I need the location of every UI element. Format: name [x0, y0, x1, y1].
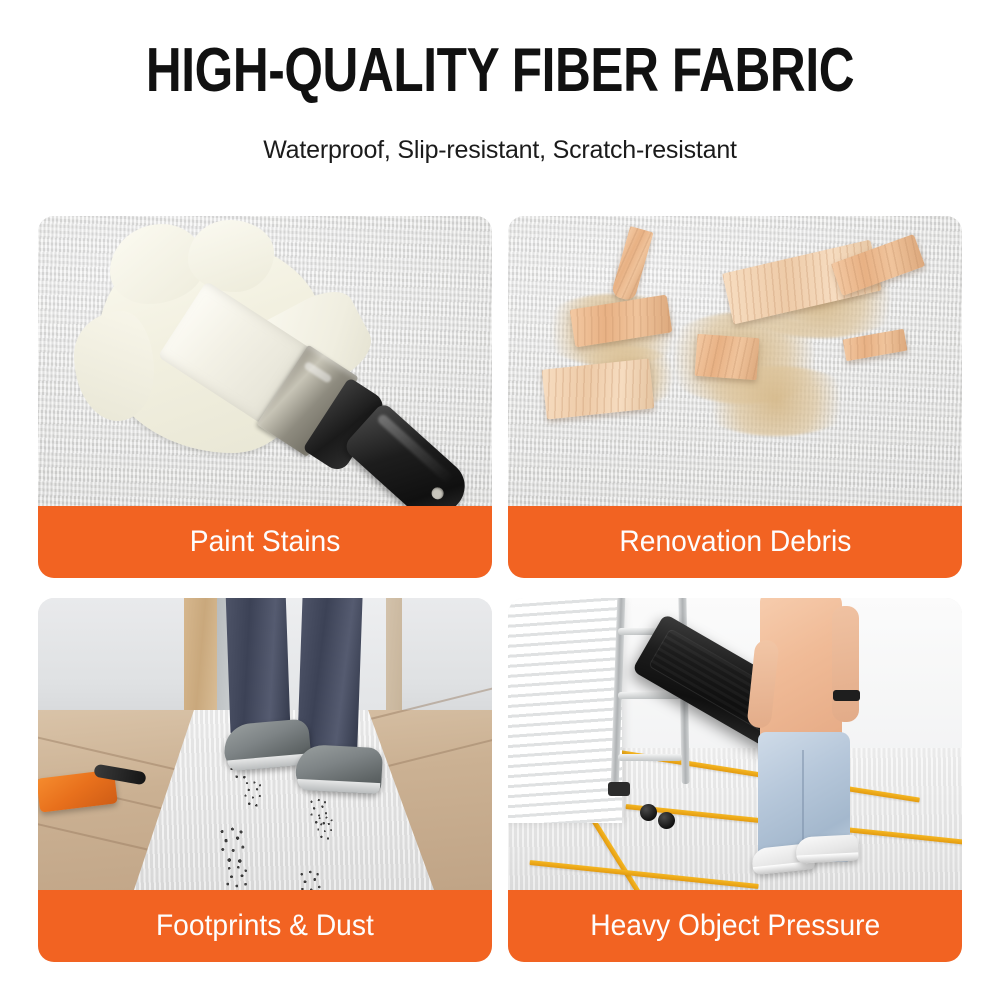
infographic-page: HIGH-QUALITY FIBER FABRIC Waterproof, Sl… [0, 0, 1000, 1000]
footprint [241, 779, 266, 810]
ladder-step [618, 754, 682, 761]
photo-heavy-object-pressure [508, 598, 962, 890]
sneaker-right [795, 834, 858, 863]
case-wheel [658, 812, 675, 829]
photo-footprints-dust [38, 598, 492, 890]
card-label-footprints-dust: Footprints & Dust [38, 890, 492, 962]
footprint [215, 825, 250, 870]
case-wheel [640, 804, 657, 821]
card-label-heavy-object-pressure: Heavy Object Pressure [508, 890, 962, 962]
louvered-panel [508, 598, 622, 823]
card-label-text: Footprints & Dust [156, 909, 374, 943]
feature-card-renovation-debris[interactable]: Renovation Debris [508, 216, 962, 578]
page-subtitle: Waterproof, Slip-resistant, Scratch-resi… [0, 135, 1000, 165]
card-label-renovation-debris: Renovation Debris [508, 506, 962, 578]
wooden-stud [184, 598, 217, 720]
wood-block [695, 334, 760, 380]
card-label-text: Paint Stains [190, 525, 340, 559]
footprint [222, 864, 253, 890]
feature-card-paint-stains[interactable]: Paint Stains [38, 216, 492, 578]
feature-card-grid: Paint Stains Renovation Debri [38, 216, 962, 962]
photo-paint-stains [38, 216, 492, 506]
wall-edge [386, 598, 402, 720]
footprint [313, 815, 336, 844]
card-label-text: Renovation Debris [619, 525, 851, 559]
card-label-text: Heavy Object Pressure [590, 909, 880, 943]
wrist-watch [833, 690, 860, 701]
work-shoe-right [295, 744, 383, 794]
person-arm-right [832, 606, 859, 722]
worker-leg-left [225, 598, 290, 735]
feature-card-footprints-dust[interactable]: Footprints & Dust [38, 598, 492, 962]
footprint [296, 868, 326, 890]
card-label-paint-stains: Paint Stains [38, 506, 492, 578]
page-title: HIGH-QUALITY FIBER FABRIC [100, 40, 900, 102]
ladder-foot [608, 782, 630, 796]
photo-renovation-debris [508, 216, 962, 506]
feature-card-heavy-object-pressure[interactable]: Heavy Object Pressure [508, 598, 962, 962]
